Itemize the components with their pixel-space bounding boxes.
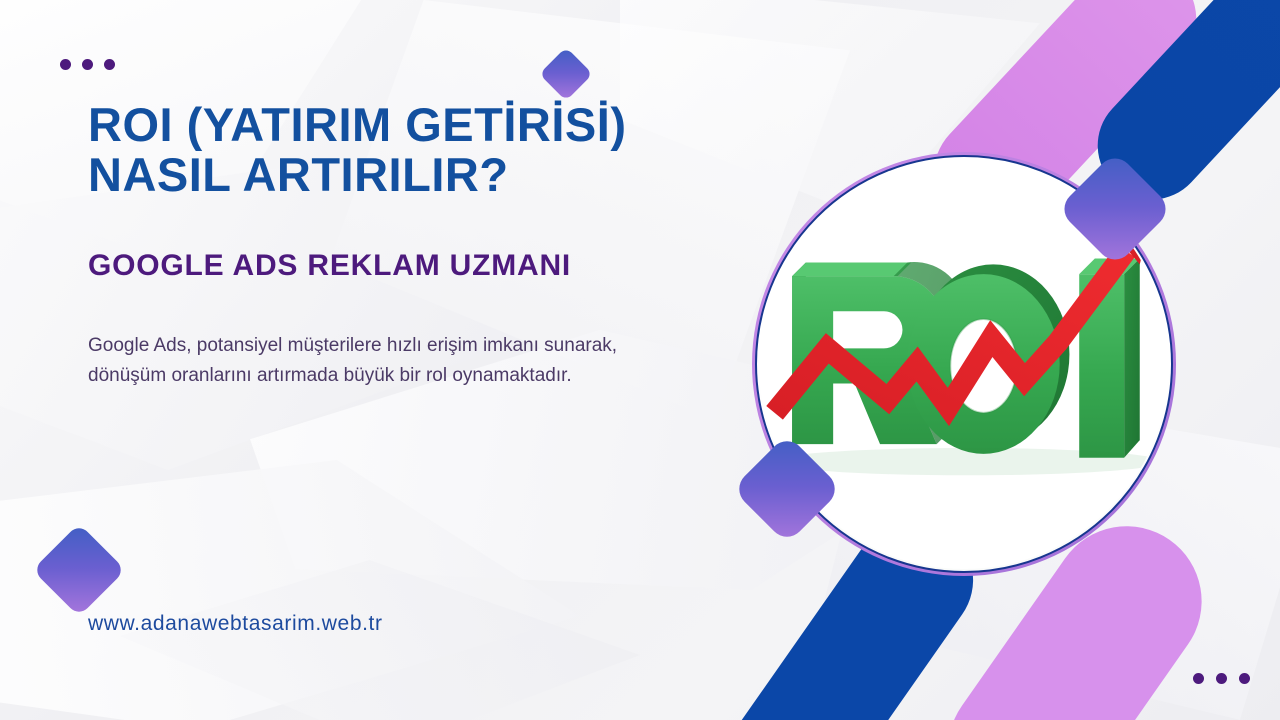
page-subtitle: GOOGLE ADS REKLAM UZMANI — [88, 249, 788, 283]
banner-canvas: ROI (YATIRIM GETİRİSİ) NASIL ARTIRILIR? … — [0, 0, 1280, 720]
dot-icon — [60, 59, 71, 70]
text-content: ROI (YATIRIM GETİRİSİ) NASIL ARTIRILIR? … — [88, 100, 788, 392]
dot-icon — [1239, 673, 1250, 684]
decor-dots-bottom-right — [1193, 673, 1250, 684]
dot-icon — [1193, 673, 1204, 684]
dot-icon — [104, 59, 115, 70]
decor-diamond-top — [539, 47, 593, 101]
page-title: ROI (YATIRIM GETİRİSİ) NASIL ARTIRILIR? — [88, 100, 788, 201]
decor-dots-top-left — [60, 59, 115, 70]
website-url[interactable]: www.adanawebtasarim.web.tr — [88, 612, 383, 636]
dot-icon — [1216, 673, 1227, 684]
dot-icon — [82, 59, 93, 70]
decor-diamond-bottom-left — [32, 523, 125, 616]
background-facet — [120, 560, 640, 720]
body-paragraph: Google Ads, potansiyel müşterilere hızlı… — [88, 331, 673, 393]
